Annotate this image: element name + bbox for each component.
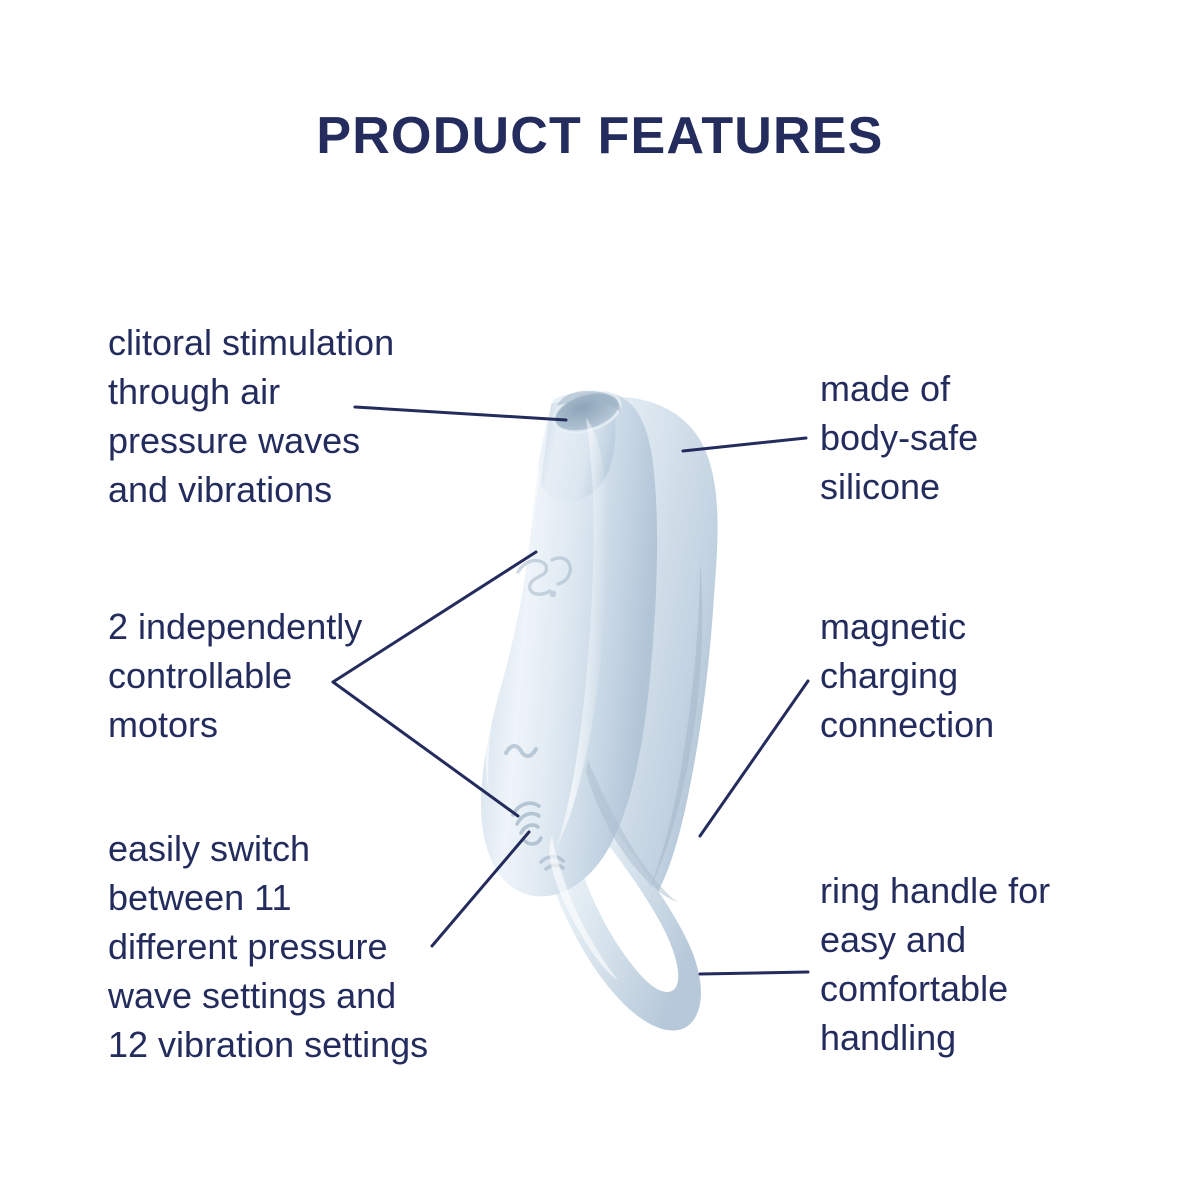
feature-label-air-pressure: clitoral stimulation through air pressur… (108, 318, 478, 514)
feature-label-settings: easily switch between 11 different press… (108, 824, 488, 1069)
product-features-infographic: PRODUCT FEATURES (0, 0, 1200, 1200)
feature-label-ring-handle: ring handle for easy and comfortable han… (820, 866, 1120, 1062)
feature-label-motors: 2 independently controllable motors (108, 602, 468, 749)
feature-label-silicone: made of body-safe silicone (820, 364, 1120, 511)
feature-label-magnetic: magnetic charging connection (820, 602, 1120, 749)
